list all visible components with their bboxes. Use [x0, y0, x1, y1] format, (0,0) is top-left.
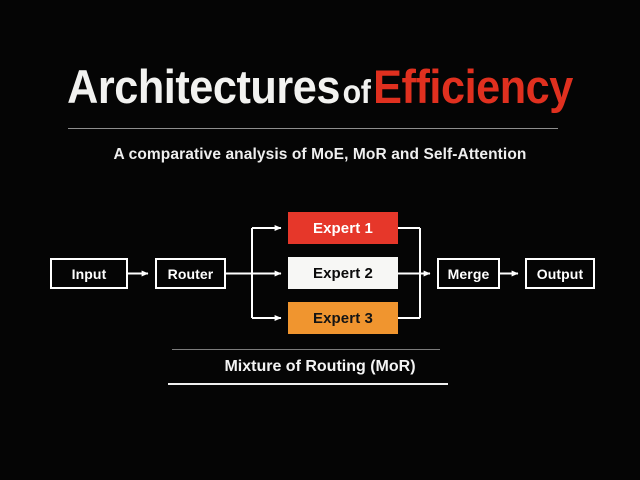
node-expert-1-label: Expert 1	[313, 220, 373, 237]
node-expert-2[interactable]: Expert 2	[288, 257, 398, 289]
node-output-label: Output	[537, 266, 583, 282]
node-router-label: Router	[168, 266, 214, 282]
subtitle: A comparative analysis of MoE, MoR and S…	[0, 146, 640, 164]
title-divider	[68, 128, 558, 129]
node-merge[interactable]: Merge	[437, 258, 500, 289]
slide-canvas: ArchitecturesofEfficiency A comparative …	[0, 0, 640, 480]
node-merge-label: Merge	[448, 266, 490, 282]
node-expert-3[interactable]: Expert 3	[288, 302, 398, 334]
node-expert-1[interactable]: Expert 1	[288, 212, 398, 244]
title-part-conjunction: of	[340, 73, 373, 110]
title-part-accent: Efficiency	[373, 60, 573, 113]
title-block: ArchitecturesofEfficiency	[0, 62, 640, 117]
diagram-caption: Mixture of Routing (MoR)	[0, 358, 640, 376]
node-expert-2-label: Expert 2	[313, 265, 373, 282]
node-expert-3-label: Expert 3	[313, 310, 373, 327]
caption-divider-top	[172, 349, 440, 350]
node-router[interactable]: Router	[155, 258, 226, 289]
node-input-label: Input	[72, 266, 107, 282]
title-part-main: Architectures	[67, 60, 340, 113]
node-output[interactable]: Output	[525, 258, 595, 289]
page-title: ArchitecturesofEfficiency	[26, 62, 615, 117]
node-input[interactable]: Input	[50, 258, 128, 289]
caption-divider-bottom	[168, 383, 448, 385]
